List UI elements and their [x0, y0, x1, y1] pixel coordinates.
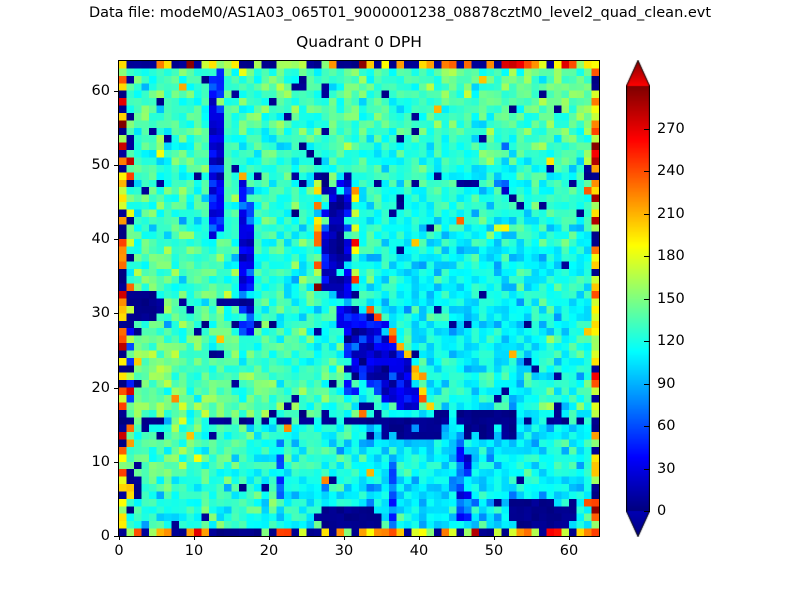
colorbar-tick-label: 180 [657, 248, 685, 264]
x-tick-label: 20 [260, 543, 278, 559]
x-tick-mark [194, 536, 195, 540]
y-tick-mark [114, 536, 118, 537]
colorbar-tick-mark [644, 129, 650, 130]
x-tick-mark [119, 536, 120, 540]
y-tick-mark [114, 388, 118, 389]
y-tick-mark [114, 91, 118, 92]
y-tick-mark [114, 239, 118, 240]
y-tick-label: 60 [70, 83, 110, 99]
colorbar-tick-label: 240 [657, 163, 685, 179]
x-tick-label: 30 [335, 543, 353, 559]
colorbar-tick-label: 90 [657, 376, 675, 392]
y-tick-mark [114, 462, 118, 463]
matplotlib-figure: Data file: modeM0/AS1A03_065T01_90000012… [0, 0, 800, 600]
y-tick-label: 10 [70, 454, 110, 470]
colorbar-tick-mark [644, 341, 650, 342]
y-tick-label: 20 [70, 380, 110, 396]
x-tick-label: 10 [185, 543, 203, 559]
y-tick-mark [114, 165, 118, 166]
x-tick-mark [419, 536, 420, 540]
colorbar-tick-mark [644, 469, 650, 470]
colorbar-tick-label: 150 [657, 291, 685, 307]
y-tick-label: 0 [70, 528, 110, 544]
colorbar-tick-mark [644, 426, 650, 427]
colorbar-tick-mark [644, 299, 650, 300]
x-tick-mark [269, 536, 270, 540]
x-tick-mark [569, 536, 570, 540]
x-tick-mark [344, 536, 345, 540]
detector-heatmap-image [119, 61, 599, 536]
colorbar-tick-label: 120 [657, 333, 685, 349]
x-tick-label: 50 [485, 543, 503, 559]
colorbar-tick-label: 60 [657, 418, 675, 434]
colorbar-tick-mark [644, 256, 650, 257]
colorbar-tick-mark [644, 384, 650, 385]
colorbar-tick-mark [644, 214, 650, 215]
colorbar-tick-mark [644, 511, 650, 512]
x-tick-mark [494, 536, 495, 540]
figure-suptitle: Data file: modeM0/AS1A03_065T01_90000012… [0, 5, 800, 21]
y-tick-label: 30 [70, 305, 110, 321]
heatmap-axes [118, 60, 600, 537]
x-tick-label: 60 [560, 543, 578, 559]
colorbar-tick-label: 270 [657, 121, 685, 137]
colorbar-tick-mark [644, 171, 650, 172]
axes-title: Quadrant 0 DPH [118, 33, 600, 51]
colorbar-tick-label: 30 [657, 461, 675, 477]
colorbar-tick-label: 0 [657, 503, 666, 519]
y-tick-mark [114, 313, 118, 314]
x-tick-label: 40 [410, 543, 428, 559]
y-tick-label: 40 [70, 231, 110, 247]
y-tick-label: 50 [70, 157, 110, 173]
x-tick-label: 0 [114, 543, 123, 559]
colorbar-tick-label: 210 [657, 206, 685, 222]
